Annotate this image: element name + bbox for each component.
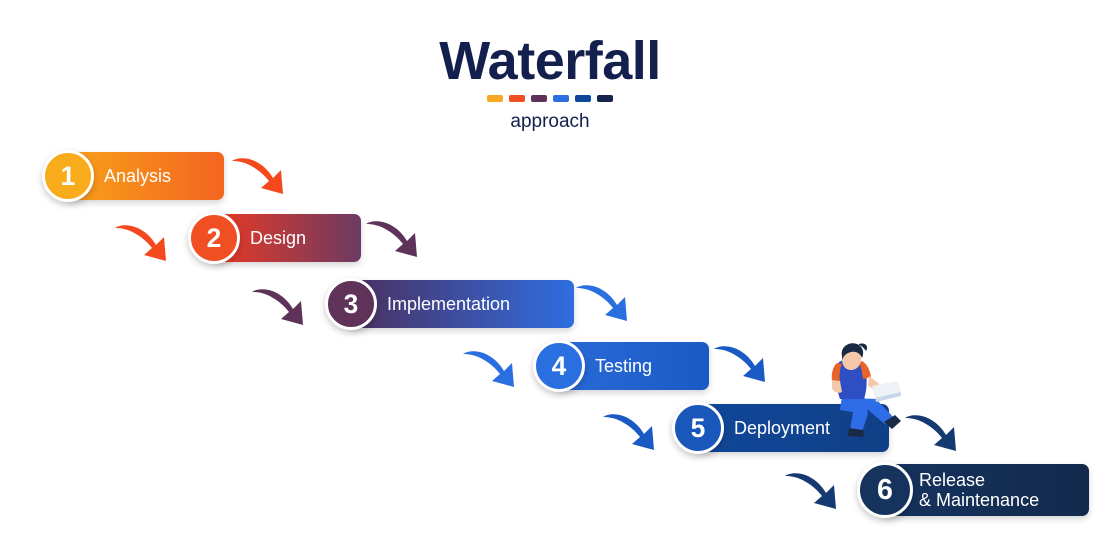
stage-badge-1[interactable]: 1 <box>42 150 94 202</box>
legend-dash-5 <box>575 95 591 102</box>
stage-2[interactable]: Design2 <box>188 214 361 262</box>
stage-label-1: Analysis <box>104 166 171 186</box>
stage-label-3: Implementation <box>387 294 510 314</box>
stage-badge-2[interactable]: 2 <box>188 212 240 264</box>
stage-label-4: Testing <box>595 356 652 376</box>
arrow-to-deployment-backstep <box>601 411 661 459</box>
arrow-to-design-backstep <box>113 222 173 270</box>
stage-badge-6[interactable]: 6 <box>857 462 913 518</box>
stage-6[interactable]: Release & Maintenance6 <box>857 464 1089 516</box>
legend-dash-6 <box>597 95 613 102</box>
page-subtitle: approach <box>0 111 1100 133</box>
person-with-laptop-illustration <box>806 336 901 441</box>
arrow-design-forward <box>364 218 424 266</box>
stage-badge-4[interactable]: 4 <box>533 340 585 392</box>
legend-dash-4 <box>553 95 569 102</box>
stage-badge-5[interactable]: 5 <box>672 402 724 454</box>
stage-badge-3[interactable]: 3 <box>325 278 377 330</box>
arrow-testing-forward <box>712 343 772 391</box>
stage-1[interactable]: Analysis1 <box>42 152 224 200</box>
stage-bar-3[interactable]: Implementation <box>349 280 574 328</box>
stage-3[interactable]: Implementation3 <box>325 280 574 328</box>
legend-dash-1 <box>487 95 503 102</box>
legend-dash-3 <box>531 95 547 102</box>
stage-label-6: Release & Maintenance <box>919 470 1039 510</box>
arrow-to-testing-backstep <box>461 348 521 396</box>
arrow-to-implementation-back <box>250 286 310 334</box>
legend-dash-2 <box>509 95 525 102</box>
waterfall-diagram: Waterfall approach Analysis1Design2Imple… <box>0 0 1100 541</box>
arrow-implementation-forward <box>574 282 634 330</box>
stage-label-2: Design <box>250 228 306 248</box>
arrow-to-release-backstep <box>783 470 843 518</box>
color-legend-dashes <box>0 95 1100 102</box>
arrow-deployment-forward <box>903 412 963 460</box>
arrow-analysis-forward <box>230 155 290 203</box>
page-title: Waterfall <box>0 32 1100 90</box>
stage-4[interactable]: Testing4 <box>533 342 709 390</box>
